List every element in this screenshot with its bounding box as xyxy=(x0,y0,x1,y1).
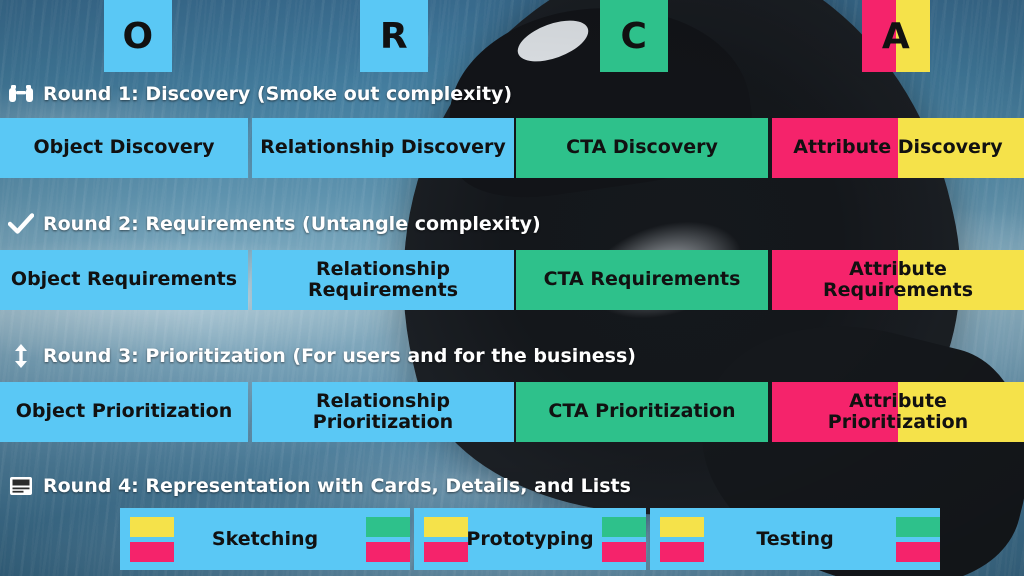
bar-relationship-prioritization[interactable]: Relationship Prioritization xyxy=(252,382,514,442)
letter-tile-a: A xyxy=(862,0,930,72)
bar-relationship-prioritization-label: Relationship Prioritization xyxy=(258,391,508,434)
bar-cta-requirements[interactable]: CTA Requirements xyxy=(516,250,768,310)
updown-arrow-icon xyxy=(8,344,34,368)
bar-testing-label: Testing xyxy=(694,528,896,550)
swatch-pair-right-testing xyxy=(896,515,940,563)
round-4-heading: Round 4: Representation with Cards, Deta… xyxy=(8,474,631,498)
round-1-bars: Object Discovery Relationship Discovery … xyxy=(0,118,1024,178)
swatch-pink xyxy=(896,542,940,562)
bar-object-discovery-label: Object Discovery xyxy=(33,137,214,158)
swatch-pink xyxy=(602,542,646,562)
round-1-heading: Round 1: Discovery (Smoke out complexity… xyxy=(8,82,512,106)
letter-o-label: O xyxy=(122,16,153,57)
bar-attribute-discovery-label: Attribute Discovery xyxy=(793,137,1002,158)
swatch-green xyxy=(896,517,940,537)
round-4-bars: Sketching Prototyping xyxy=(0,508,1024,572)
bar-attribute-requirements[interactable]: Attribute Requirements xyxy=(772,250,1024,310)
bar-attribute-prioritization[interactable]: Attribute Prioritization xyxy=(772,382,1024,442)
swatch-pair-left-sketching xyxy=(120,515,164,563)
bar-object-discovery[interactable]: Object Discovery xyxy=(0,118,248,178)
round-2-heading-label: Round 2: Requirements (Untangle complexi… xyxy=(43,213,541,235)
round-3-bars: Object Prioritization Relationship Prior… xyxy=(0,382,1024,442)
bar-object-prioritization[interactable]: Object Prioritization xyxy=(0,382,248,442)
bar-object-prioritization-label: Object Prioritization xyxy=(16,401,233,422)
bar-relationship-requirements-label: Relationship Requirements xyxy=(258,259,508,302)
slide-canvas: O R C A xyxy=(0,0,1024,576)
letter-tile-o: O xyxy=(104,0,172,72)
swatch-pair-left-testing xyxy=(650,515,694,563)
bar-prototyping[interactable]: Prototyping xyxy=(414,508,646,570)
bar-prototyping-label: Prototyping xyxy=(458,528,602,550)
round-1-heading-label: Round 1: Discovery (Smoke out complexity… xyxy=(43,83,512,105)
card-icon xyxy=(8,474,34,498)
round-4-heading-label: Round 4: Representation with Cards, Deta… xyxy=(43,475,631,497)
bar-attribute-prioritization-label: Attribute Prioritization xyxy=(778,391,1018,434)
letter-r-label: R xyxy=(380,16,408,57)
bar-cta-discovery-label: CTA Discovery xyxy=(566,137,718,158)
bar-relationship-discovery[interactable]: Relationship Discovery xyxy=(252,118,514,178)
bar-object-requirements-label: Object Requirements xyxy=(11,269,237,290)
swatch-pair-left-prototyping xyxy=(414,515,458,563)
round-2-bars: Object Requirements Relationship Require… xyxy=(0,250,1024,310)
bar-attribute-requirements-label: Attribute Requirements xyxy=(778,259,1018,302)
orca-acronym: O R C A xyxy=(0,0,1024,76)
bar-cta-prioritization-label: CTA Prioritization xyxy=(548,401,735,422)
swatch-pair-right-prototyping xyxy=(602,515,646,563)
swatch-pink xyxy=(366,542,410,562)
letter-tile-c: C xyxy=(600,0,668,72)
bar-relationship-discovery-label: Relationship Discovery xyxy=(260,137,506,158)
bar-relationship-requirements[interactable]: Relationship Requirements xyxy=(252,250,514,310)
round-3-heading: Round 3: Prioritization (For users and f… xyxy=(8,344,636,368)
checkmark-icon xyxy=(8,212,34,236)
letter-tile-r: R xyxy=(360,0,428,72)
swatch-pair-right-sketching xyxy=(366,515,410,563)
bar-cta-requirements-label: CTA Requirements xyxy=(544,269,741,290)
bar-sketching-label: Sketching xyxy=(164,528,366,550)
bar-testing[interactable]: Testing xyxy=(650,508,940,570)
bar-object-requirements[interactable]: Object Requirements xyxy=(0,250,248,310)
bar-sketching[interactable]: Sketching xyxy=(120,508,410,570)
swatch-green xyxy=(602,517,646,537)
bar-attribute-discovery[interactable]: Attribute Discovery xyxy=(772,118,1024,178)
swatch-green xyxy=(366,517,410,537)
binoculars-icon xyxy=(8,82,34,106)
bar-cta-prioritization[interactable]: CTA Prioritization xyxy=(516,382,768,442)
letter-c-label: C xyxy=(621,16,648,57)
diagram-content: O R C A xyxy=(0,0,1024,576)
round-3-heading-label: Round 3: Prioritization (For users and f… xyxy=(43,345,636,367)
bar-cta-discovery[interactable]: CTA Discovery xyxy=(516,118,768,178)
letter-a-label: A xyxy=(882,16,910,57)
round-2-heading: Round 2: Requirements (Untangle complexi… xyxy=(8,212,541,236)
